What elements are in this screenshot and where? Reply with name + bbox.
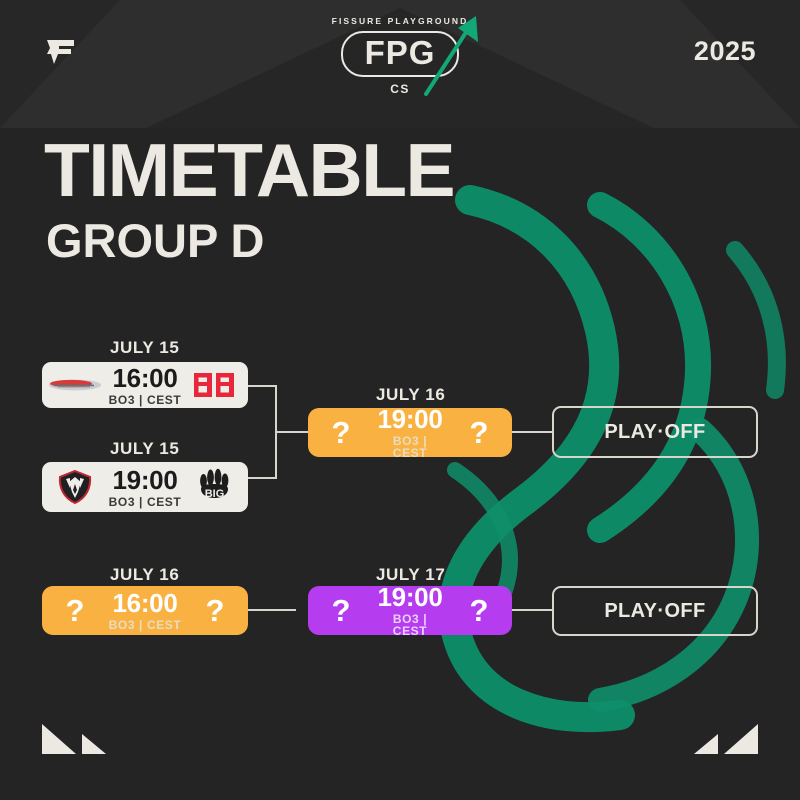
bracket: JULY 15 16:00 BO3 | CEST — [0, 0, 800, 800]
question-mark-icon: ? — [470, 417, 489, 448]
team-slot-right[interactable]: ? — [446, 417, 512, 448]
match-date-upper-decider: JULY 16 — [376, 385, 445, 405]
match-card-upper-2[interactable]: 19:00 BO3 | CEST BIG — [42, 462, 248, 512]
question-mark-icon: ? — [470, 595, 489, 626]
match-card-lower-decider[interactable]: ? 19:00 BO3 | CEST ? — [308, 586, 512, 635]
match-meta: BO3 | CEST — [374, 613, 446, 637]
match-card-lower-elimination[interactable]: ? 16:00 BO3 | CEST ? — [42, 586, 248, 635]
year-label: 2025 — [694, 36, 756, 67]
question-mark-icon: ? — [66, 595, 85, 626]
page-title: TIMETABLE — [44, 133, 454, 208]
big-paw-logo-icon: BIG — [195, 467, 235, 507]
team-slot-left[interactable] — [42, 373, 108, 397]
match-time: 16:00 — [108, 365, 182, 391]
match-date-upper-1: JULY 15 — [110, 338, 179, 358]
svg-text:BIG: BIG — [205, 488, 225, 500]
match-meta: BO3 | CEST — [108, 619, 182, 631]
question-mark-icon: ? — [332, 417, 351, 448]
playoff-label: PLAY·OFF — [604, 421, 705, 444]
team-slot-left[interactable]: ? — [42, 595, 108, 626]
match-time: 16:00 — [108, 590, 182, 616]
logo-sub-text: CS — [300, 82, 500, 96]
match-date-lower-elimination: JULY 16 — [110, 565, 179, 585]
team-slot-right[interactable]: BIG — [182, 467, 248, 507]
fpg-logo: FISSURE PLAYGROUND FPG CS — [300, 16, 500, 96]
team-slot-right[interactable]: ? — [182, 595, 248, 626]
match-center: 19:00 BO3 | CEST — [108, 467, 182, 508]
playoff-box-lower[interactable]: PLAY·OFF — [552, 586, 758, 636]
timetable-poster: 2025 FISSURE PLAYGROUND FPG CS TIMETABLE… — [0, 0, 800, 800]
team-slot-left[interactable]: ? — [308, 595, 374, 626]
double-triangle-right-icon — [684, 722, 760, 756]
match-center: 19:00 BO3 | CEST — [374, 406, 446, 459]
match-meta: BO3 | CEST — [374, 435, 446, 459]
team-slot-right[interactable]: ? — [446, 595, 512, 626]
playoff-box-upper[interactable]: PLAY·OFF — [552, 406, 758, 458]
logo-top-text: FISSURE PLAYGROUND — [300, 16, 500, 26]
match-center: 16:00 BO3 | CEST — [108, 365, 182, 406]
team-slot-left[interactable]: ? — [308, 417, 374, 448]
question-mark-icon: ? — [332, 595, 351, 626]
match-date-upper-2: JULY 15 — [110, 439, 179, 459]
playoff-label: PLAY·OFF — [604, 600, 705, 623]
double-triangle-left-icon — [40, 722, 116, 756]
logo-badge: FPG — [341, 31, 460, 77]
match-meta: BO3 | CEST — [108, 496, 182, 508]
match-time: 19:00 — [374, 584, 446, 610]
fissure-f-icon — [44, 34, 78, 68]
team-slot-right[interactable] — [182, 370, 248, 400]
match-card-upper-1[interactable]: 16:00 BO3 | CEST — [42, 362, 248, 408]
question-mark-icon: ? — [206, 595, 225, 626]
logo-wordmark: FPG — [365, 34, 436, 71]
virtus-pro-logo-icon — [48, 373, 102, 397]
betboom-bb-logo-icon — [192, 370, 238, 400]
match-time: 19:00 — [374, 406, 446, 432]
match-center: 16:00 BO3 | CEST — [108, 590, 182, 631]
aurora-shield-logo-icon — [55, 468, 95, 506]
match-center: 19:00 BO3 | CEST — [374, 584, 446, 637]
page-subtitle: GROUP D — [46, 217, 265, 264]
match-time: 19:00 — [108, 467, 182, 493]
match-card-upper-decider[interactable]: ? 19:00 BO3 | CEST ? — [308, 408, 512, 457]
match-meta: BO3 | CEST — [108, 394, 182, 406]
team-slot-left[interactable] — [42, 468, 108, 506]
